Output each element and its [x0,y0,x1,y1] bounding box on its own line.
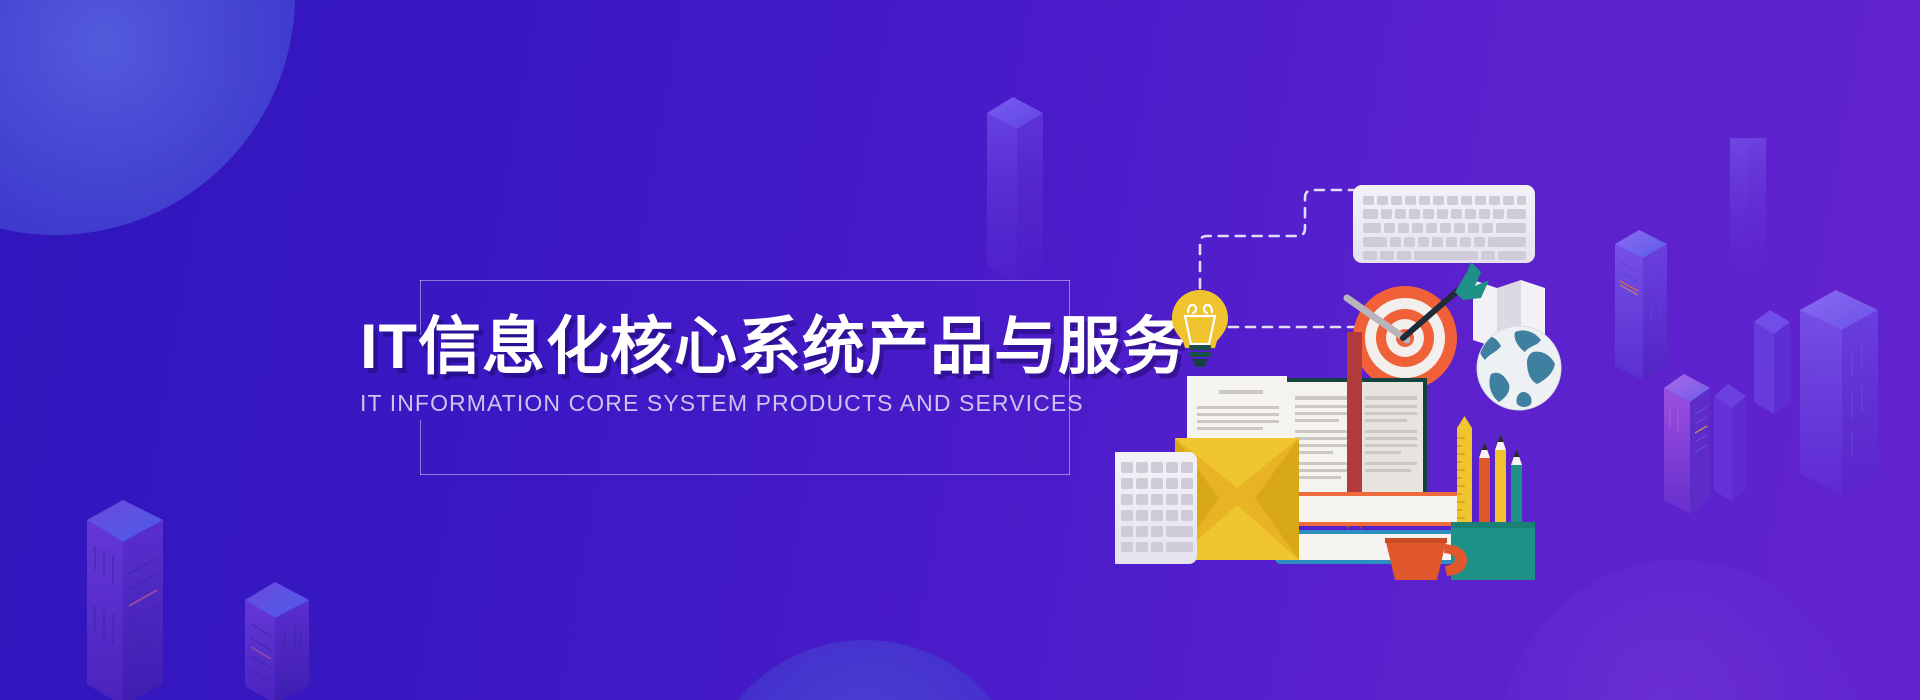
hero-text-block: IT信息化核心系统产品与服务 IT INFORMATION CORE SYSTE… [420,280,1070,475]
hero-banner: IT信息化核心系统产品与服务 IT INFORMATION CORE SYSTE… [0,0,1920,700]
building-right-2 [1728,138,1798,278]
frame-top-border [420,280,1070,281]
frame-left-border-lower [420,420,421,475]
building-center-slim [985,95,1075,285]
decorative-circle-bottom-right [1500,560,1860,700]
ruler-icon [1457,416,1472,538]
keyboard-bottom-left [1115,452,1197,564]
frame-bottom-border [420,474,1070,475]
globe-icon [1477,326,1561,410]
decorative-circle-bottom-center [700,640,1030,700]
building-left-short [243,580,383,700]
page-title: IT信息化核心系统产品与服务 [360,316,1186,379]
page-subtitle: IT INFORMATION CORE SYSTEM PRODUCTS AND … [360,392,1084,415]
lightbulb-icon [1172,290,1228,367]
keyboard-top [1353,185,1535,263]
building-right-1 [1613,228,1713,383]
building-right-5 [1662,372,1742,517]
building-right-4 [1798,288,1920,498]
building-left-tall [85,498,275,700]
decorative-circle-top-left [0,0,295,235]
building-right-6 [1712,382,1782,507]
building-right-3 [1752,308,1822,418]
hero-illustration [1115,140,1575,580]
